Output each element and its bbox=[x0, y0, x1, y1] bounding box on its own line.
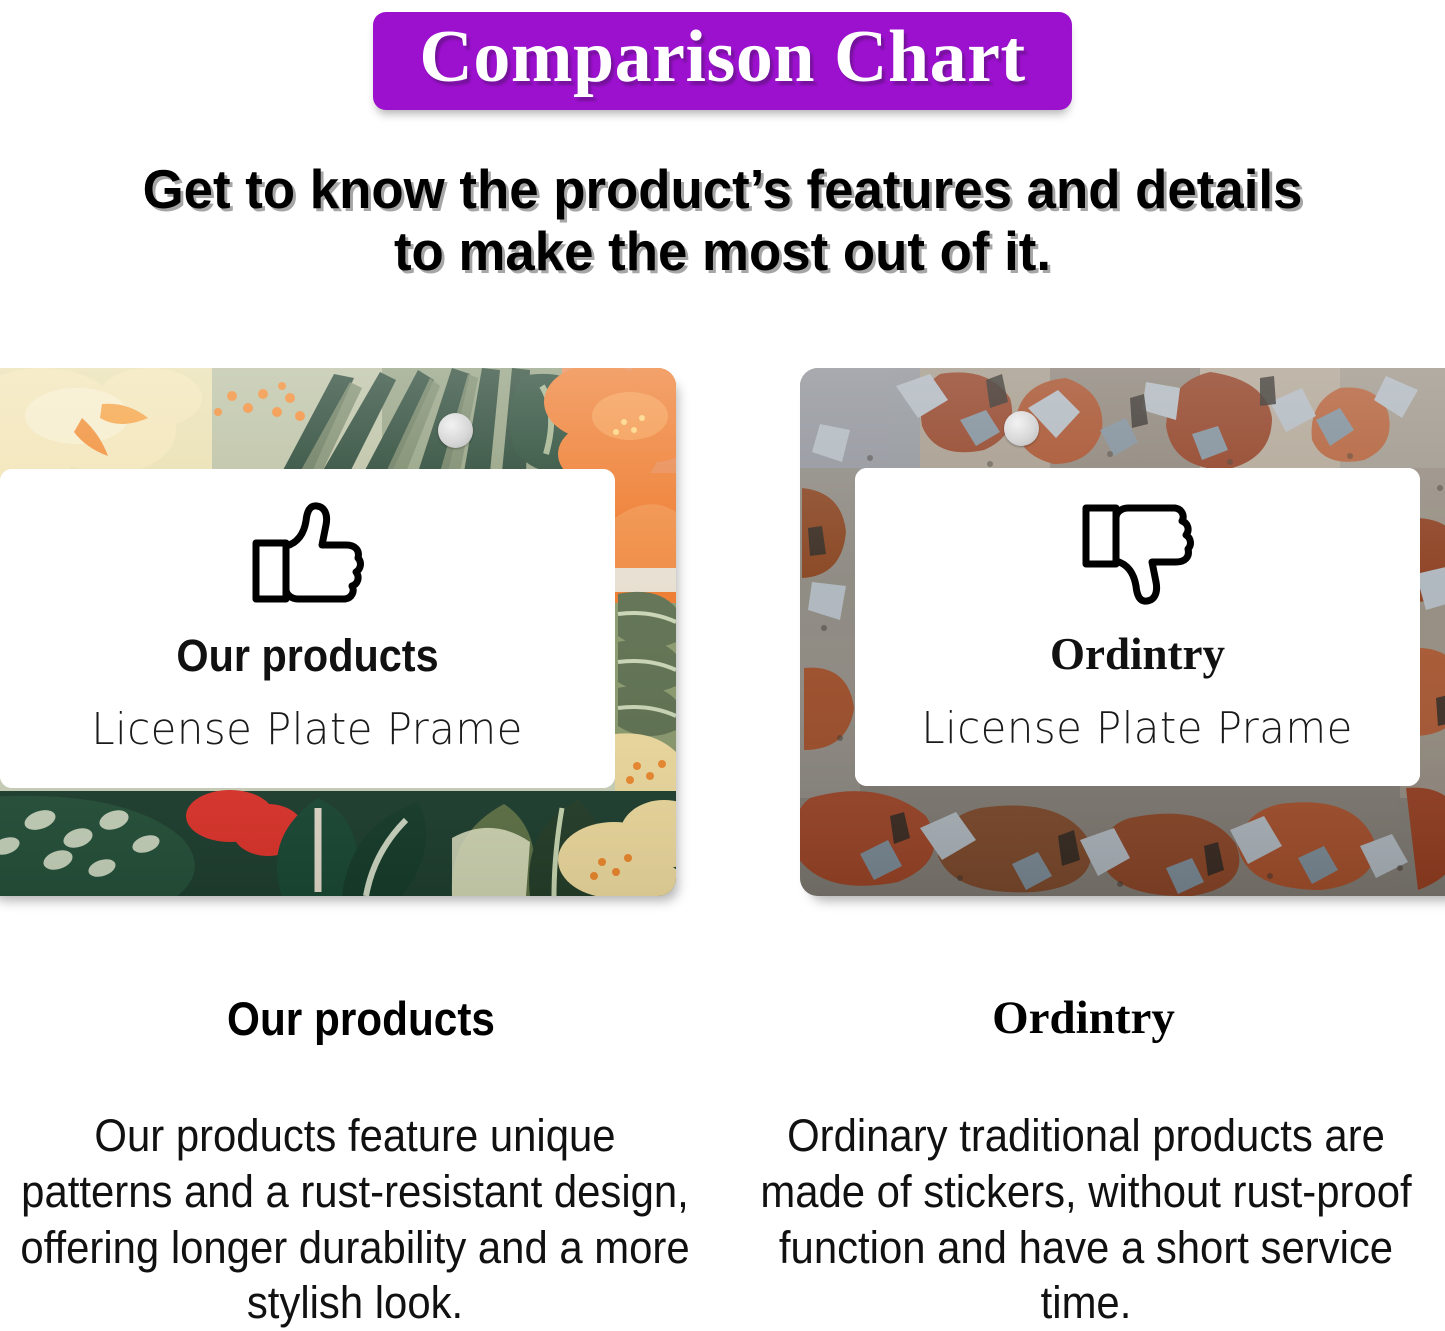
column-body-ordinary: Ordinary traditional products are made o… bbox=[750, 1108, 1421, 1331]
plate-window-ordinary: Ordintry License Plate Prame bbox=[855, 468, 1420, 786]
plate-window-ours: Our products License Plate Prame bbox=[0, 469, 615, 788]
product-frame-ordinary: Ordintry License Plate Prame bbox=[800, 368, 1445, 896]
screw-hole bbox=[438, 413, 473, 448]
brand-label-ours: Our products bbox=[176, 633, 438, 678]
product-frame-ours: Our products License Plate Prame bbox=[0, 368, 676, 896]
brand-label-ordinary: Ordintry bbox=[1050, 632, 1225, 677]
thumbs-up-icon bbox=[250, 501, 366, 607]
page-title: Comparison Chart bbox=[419, 18, 1025, 98]
screw-hole bbox=[1004, 411, 1039, 446]
column-heading-ordinary: Ordintry bbox=[722, 995, 1445, 1042]
product-label-ordinary: License Plate Prame bbox=[922, 707, 1353, 751]
thumbs-down-icon bbox=[1080, 500, 1196, 606]
column-body-ours: Our products feature unique patterns and… bbox=[16, 1108, 695, 1331]
title-banner: Comparison Chart bbox=[373, 12, 1071, 110]
column-heading-ours: Our products bbox=[36, 995, 686, 1042]
product-label-ours: License Plate Prame bbox=[92, 708, 523, 752]
title-banner-wrap: Comparison Chart bbox=[0, 12, 1445, 110]
subtitle-text: Get to know the product’s features and d… bbox=[29, 158, 1416, 282]
